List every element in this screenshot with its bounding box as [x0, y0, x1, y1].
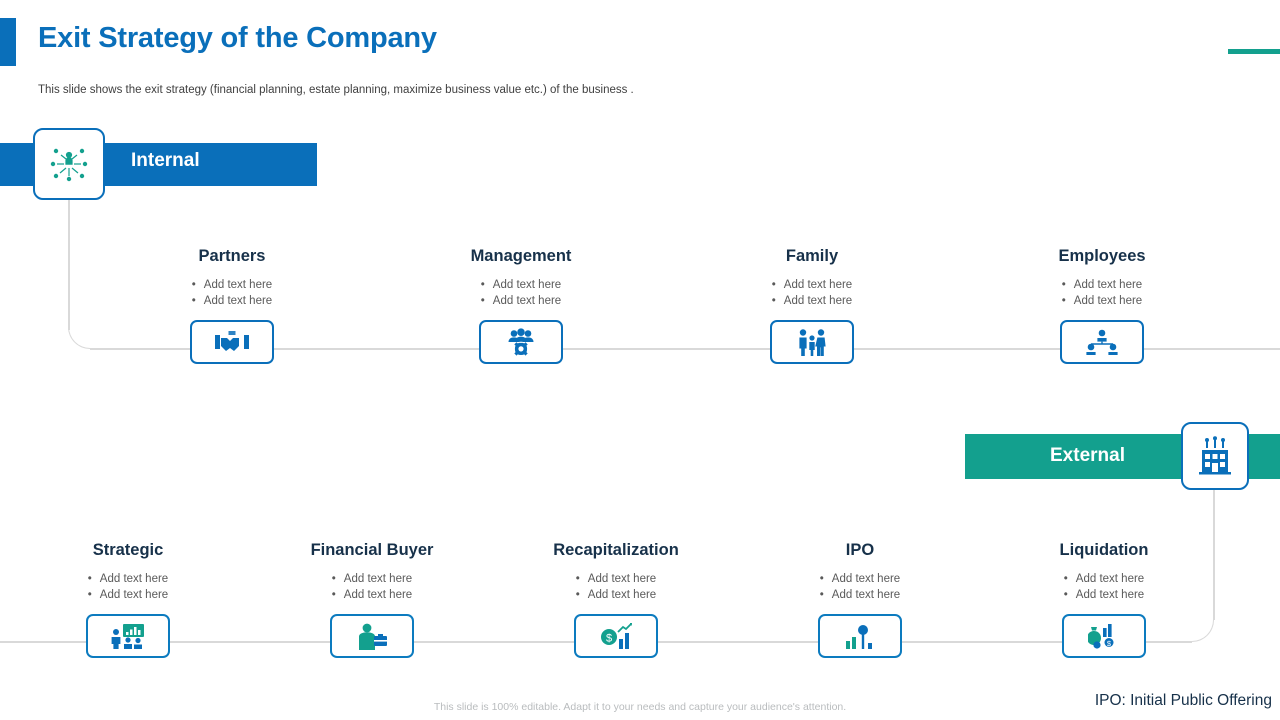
- list-item: •Add text here: [481, 277, 561, 293]
- money-bag-chart-icon: $: [1088, 623, 1120, 649]
- card-title: Recapitalization: [543, 541, 689, 560]
- list-item-label: Add text here: [1076, 589, 1144, 601]
- card-financial-buyer[interactable]: Financial Buyer •Add text here •Add text…: [299, 541, 445, 658]
- card-bullets: •Add text here •Add text here: [820, 571, 900, 603]
- money-growth-chart-icon: $: [600, 623, 632, 649]
- org-chart-icon: [1085, 329, 1119, 355]
- list-item-label: Add text here: [832, 573, 900, 585]
- ipo-legend: IPO: Initial Public Offering: [1095, 692, 1272, 710]
- list-item: •Add text here: [576, 587, 656, 603]
- list-item-label: Add text here: [784, 295, 852, 307]
- card-title: Liquidation: [1031, 541, 1177, 560]
- list-item: •Add text here: [481, 293, 561, 309]
- external-badge: [1181, 422, 1249, 490]
- list-item-label: Add text here: [1076, 573, 1144, 585]
- bullet-marker: •: [576, 571, 588, 587]
- network-people-icon: [48, 143, 90, 185]
- page-title: Exit Strategy of the Company: [38, 22, 437, 55]
- list-item: •Add text here: [1062, 293, 1142, 309]
- card-bullets: •Add text here •Add text here: [192, 277, 272, 309]
- card-partners[interactable]: Partners •Add text here •Add text here: [159, 247, 305, 364]
- card-icon-box[interactable]: [190, 320, 274, 364]
- bullet-marker: •: [88, 571, 100, 587]
- list-item: •Add text here: [772, 277, 852, 293]
- svg-text:$: $: [606, 633, 612, 645]
- list-item: •Add text here: [576, 571, 656, 587]
- list-item-label: Add text here: [588, 573, 656, 585]
- list-item-label: Add text here: [100, 589, 168, 601]
- card-family[interactable]: Family •Add text here •Add text here: [739, 247, 885, 364]
- bar-chart-pin-icon: [844, 623, 876, 649]
- internal-badge: [33, 128, 105, 200]
- bullet-marker: •: [192, 293, 204, 309]
- card-employees[interactable]: Employees •Add text here •Add text here: [1029, 247, 1175, 364]
- top-right-accent-dash: [1228, 49, 1280, 54]
- page-subtitle: This slide shows the exit strategy (fina…: [38, 84, 634, 96]
- list-item: •Add text here: [1064, 587, 1144, 603]
- bullet-marker: •: [820, 587, 832, 603]
- card-bullets: •Add text here •Add text here: [481, 277, 561, 309]
- card-icon-box[interactable]: [1060, 320, 1144, 364]
- external-connector-vertical: [1213, 490, 1215, 620]
- list-item-label: Add text here: [588, 589, 656, 601]
- people-gear-icon: [505, 328, 537, 356]
- card-bullets: •Add text here •Add text here: [576, 571, 656, 603]
- card-title: Strategic: [55, 541, 201, 560]
- list-item-label: Add text here: [204, 295, 272, 307]
- list-item-label: Add text here: [784, 279, 852, 291]
- card-icon-box[interactable]: [479, 320, 563, 364]
- card-bullets: •Add text here •Add text here: [772, 277, 852, 309]
- list-item: •Add text here: [1062, 277, 1142, 293]
- list-item: •Add text here: [1064, 571, 1144, 587]
- internal-section-label: Internal: [131, 150, 200, 172]
- family-icon: [797, 328, 827, 356]
- card-liquidation[interactable]: Liquidation •Add text here •Add text her…: [1031, 541, 1177, 658]
- bullet-marker: •: [1064, 571, 1076, 587]
- list-item-label: Add text here: [493, 279, 561, 291]
- list-item: •Add text here: [88, 587, 168, 603]
- list-item: •Add text here: [332, 571, 412, 587]
- list-item-label: Add text here: [1074, 295, 1142, 307]
- card-icon-box[interactable]: $: [574, 614, 658, 658]
- card-bullets: •Add text here •Add text here: [1064, 571, 1144, 603]
- card-ipo[interactable]: IPO •Add text here •Add text here: [787, 541, 933, 658]
- list-item-label: Add text here: [344, 589, 412, 601]
- list-item: •Add text here: [192, 293, 272, 309]
- card-title: Family: [739, 247, 885, 266]
- bullet-marker: •: [820, 571, 832, 587]
- card-strategic[interactable]: Strategic •Add text here •Add text here: [55, 541, 201, 658]
- card-recapitalization[interactable]: Recapitalization •Add text here •Add tex…: [543, 541, 689, 658]
- bullet-marker: •: [1062, 277, 1074, 293]
- list-item: •Add text here: [192, 277, 272, 293]
- card-bullets: •Add text here •Add text here: [88, 571, 168, 603]
- list-item: •Add text here: [332, 587, 412, 603]
- internal-connector-vertical: [68, 200, 70, 330]
- card-title: Financial Buyer: [299, 541, 445, 560]
- list-item-label: Add text here: [100, 573, 168, 585]
- card-title: Partners: [159, 247, 305, 266]
- list-item-label: Add text here: [1074, 279, 1142, 291]
- bullet-marker: •: [772, 293, 784, 309]
- bullet-marker: •: [192, 277, 204, 293]
- external-connector-corner: [1190, 618, 1214, 642]
- list-item-label: Add text here: [493, 295, 561, 307]
- card-icon-box[interactable]: [330, 614, 414, 658]
- card-title: Management: [448, 247, 594, 266]
- card-icon-box[interactable]: [86, 614, 170, 658]
- card-title: Employees: [1029, 247, 1175, 266]
- editable-footer-note: This slide is 100% editable. Adapt it to…: [0, 701, 1280, 713]
- handshake-icon: [215, 329, 249, 355]
- card-icon-box[interactable]: [818, 614, 902, 658]
- list-item-label: Add text here: [204, 279, 272, 291]
- external-section-label: External: [1050, 445, 1125, 467]
- title-accent-bar: [0, 18, 16, 66]
- businessman-briefcase-icon: [356, 623, 388, 650]
- list-item-label: Add text here: [344, 573, 412, 585]
- card-management[interactable]: Management •Add text here •Add text here: [448, 247, 594, 364]
- list-item: •Add text here: [820, 587, 900, 603]
- bullet-marker: •: [88, 587, 100, 603]
- bullet-marker: •: [481, 277, 493, 293]
- internal-connector-corner: [68, 325, 92, 349]
- card-icon-box[interactable]: [770, 320, 854, 364]
- list-item: •Add text here: [88, 571, 168, 587]
- card-title: IPO: [787, 541, 933, 560]
- bullet-marker: •: [332, 571, 344, 587]
- bullet-marker: •: [772, 277, 784, 293]
- card-icon-box[interactable]: $: [1062, 614, 1146, 658]
- card-bullets: •Add text here •Add text here: [1062, 277, 1142, 309]
- list-item-label: Add text here: [832, 589, 900, 601]
- bullet-marker: •: [576, 587, 588, 603]
- bullet-marker: •: [481, 293, 493, 309]
- bullet-marker: •: [332, 587, 344, 603]
- presentation-team-icon: [111, 623, 145, 649]
- list-item: •Add text here: [820, 571, 900, 587]
- bullet-marker: •: [1064, 587, 1076, 603]
- card-bullets: •Add text here •Add text here: [332, 571, 412, 603]
- bullet-marker: •: [1062, 293, 1074, 309]
- list-item: •Add text here: [772, 293, 852, 309]
- factory-building-icon: [1195, 436, 1235, 476]
